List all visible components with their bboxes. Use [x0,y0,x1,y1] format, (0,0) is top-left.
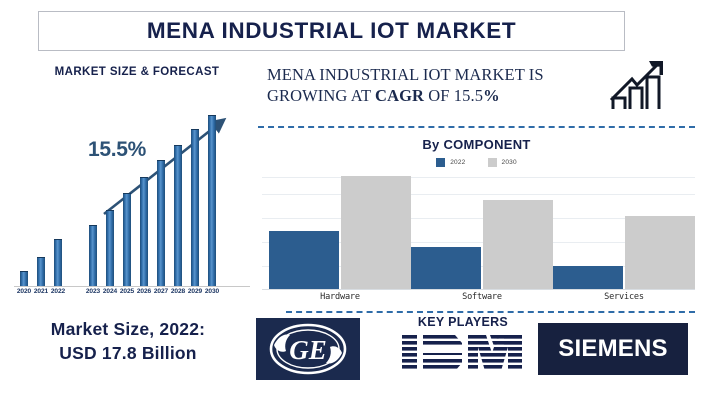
headline-text-part2: OF 15.5 [424,86,483,105]
gridline [262,177,695,178]
component-bar [483,200,553,289]
market-size-forecast-label: MARKET SIZE & FORECAST [37,66,237,78]
by-component-title: By COMPONENT [258,137,695,152]
growth-bar [89,225,97,286]
growth-bar [191,129,199,286]
component-category-label: Services [564,292,684,302]
siemens-logo: SIEMENS [538,323,688,375]
legend-item[interactable]: 2022 [436,158,465,167]
ibm-logo [400,329,526,377]
dashed-separator-top [258,126,695,128]
growth-bar [20,271,28,286]
growth-year-label: 2022 [47,288,69,295]
by-component-chart [262,170,695,290]
by-component-category-labels: HardwareSoftwareServices [262,292,695,308]
component-category-label: Hardware [280,292,400,302]
headline-percent-sign: % [483,86,500,105]
legend-item[interactable]: 2030 [488,158,517,167]
component-bar [625,216,695,289]
headline-cagr-bold: CAGR [375,86,424,105]
page-title: MENA INDUSTRIAL IOT MARKET [147,18,516,44]
by-component-baseline [262,289,695,290]
growth-bar [37,257,45,286]
by-component-legend: 20222030 [258,158,695,167]
growth-chart-plot [8,104,253,286]
svg-text:GE: GE [289,335,327,365]
component-category-label: Software [422,292,542,302]
component-bar [341,176,411,289]
legend-swatch-icon [436,158,445,167]
growth-bar [174,145,182,286]
growth-bar [123,193,131,286]
growth-bar [208,115,216,287]
legend-label: 2030 [502,159,517,166]
component-bar [269,231,339,289]
cagr-callout: 15.5% [88,138,146,162]
market-size-line-2: USD 17.8 Billion [14,341,242,365]
growth-year-label: 2030 [201,288,223,295]
growth-bar [157,160,165,286]
legend-swatch-icon [488,158,497,167]
growth-chart-baseline [14,286,250,287]
market-size-value: Market Size, 2022: USD 17.8 Billion [14,317,242,365]
growth-bar [54,239,62,286]
market-size-line-1: Market Size, 2022: [14,317,242,341]
component-bar [553,266,623,289]
gridline [262,194,695,195]
siemens-logo-text: SIEMENS [558,335,667,363]
page-title-box: MENA INDUSTRIAL IOT MARKET [38,11,625,51]
growth-chart-year-labels: 2020202120222023202420252026202720282029… [8,288,253,302]
legend-label: 2022 [450,159,465,166]
growth-bar [106,210,114,286]
growth-bar [140,177,148,286]
component-bar [411,247,481,289]
dashed-separator-bottom [286,311,695,313]
key-players-label: KEY PLAYERS [378,315,548,329]
ge-logo: GE [256,318,360,380]
infographic-page: MENA INDUSTRIAL IOT MARKET MARKET SIZE &… [0,0,701,405]
growth-headline: MENA INDUSTRIAL IOT MARKET IS GROWING AT… [267,64,587,106]
market-size-forecast-chart: 2020202120222023202420252026202720282029… [8,104,253,300]
bar-chart-growth-icon [608,58,668,110]
